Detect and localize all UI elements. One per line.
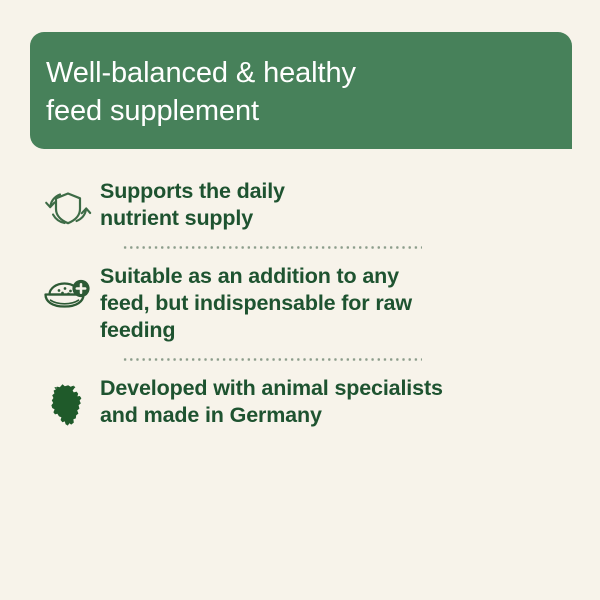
- feature-item-made-in-germany: Developed with animal specialists and ma…: [0, 375, 600, 433]
- feature-item-nutrient-supply: Supports the daily nutrient supply: [0, 178, 600, 232]
- feature-divider: [122, 358, 422, 361]
- germany-map-icon: [42, 375, 100, 433]
- feature-item-label: Suitable as an addition to any feed, but…: [100, 263, 412, 344]
- feature-item-label: Supports the daily nutrient supply: [100, 178, 285, 232]
- page-title: Well-balanced & healthy feed supplement: [46, 54, 542, 130]
- feature-item-raw-feeding: Suitable as an addition to any feed, but…: [0, 263, 600, 344]
- food-bowl-plus-icon: [42, 263, 100, 317]
- feature-item-label: Developed with animal specialists and ma…: [100, 375, 443, 429]
- feature-divider: [122, 246, 422, 249]
- header-banner: Well-balanced & healthy feed supplement: [30, 32, 572, 149]
- feature-list: Supports the daily nutrient supply Suita…: [0, 178, 600, 433]
- shield-refresh-icon: [42, 178, 100, 232]
